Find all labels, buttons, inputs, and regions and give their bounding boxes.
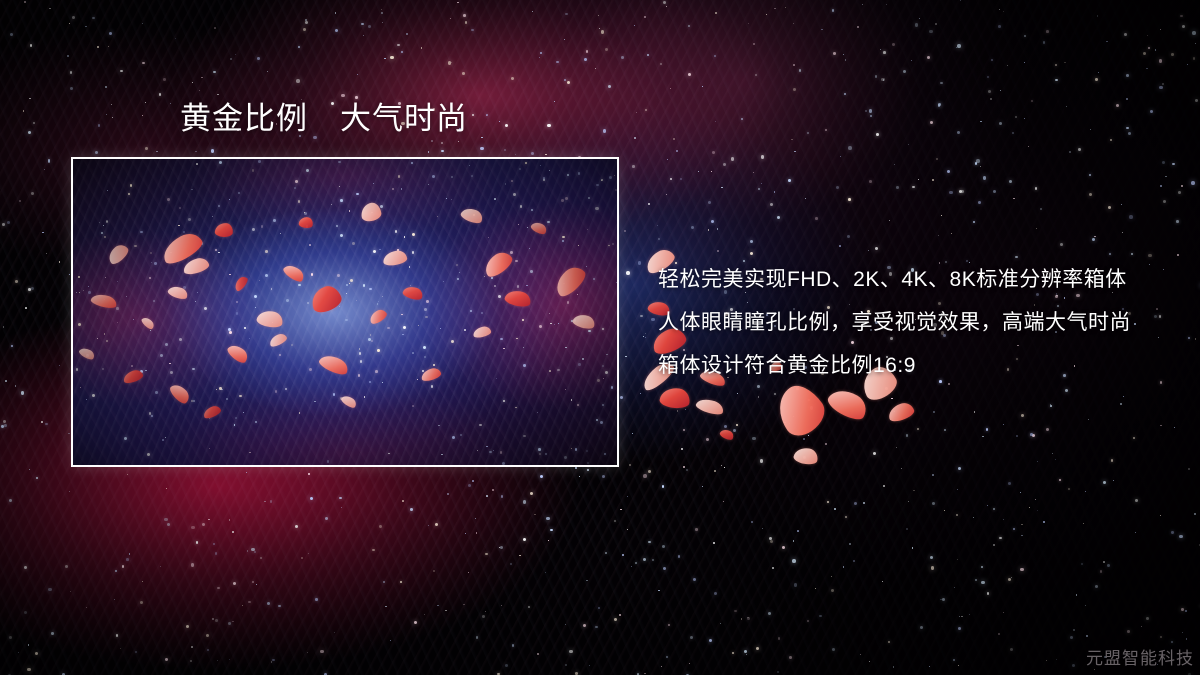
feature-description: 轻松完美实现FHD、2K、4K、8K标准分辨率箱体 人体眼睛瞳孔比例，享受视觉效…	[658, 258, 1158, 387]
description-line-1: 轻松完美实现FHD、2K、4K、8K标准分辨率箱体	[658, 258, 1158, 301]
brand-watermark: 元盟智能科技	[1086, 644, 1194, 669]
slide-canvas: 黄金比例 大气时尚 轻松完美实现FHD、2K、4K、8K标准分辨率箱体 人体眼睛…	[0, 0, 1200, 675]
display-screen-frame	[71, 157, 619, 467]
description-line-3: 箱体设计符合黄金比例16:9	[658, 344, 1158, 387]
description-line-2: 人体眼睛瞳孔比例，享受视觉效果，高端大气时尚	[658, 301, 1158, 344]
screen-vignette	[73, 159, 617, 465]
page-title: 黄金比例 大气时尚	[180, 101, 468, 137]
